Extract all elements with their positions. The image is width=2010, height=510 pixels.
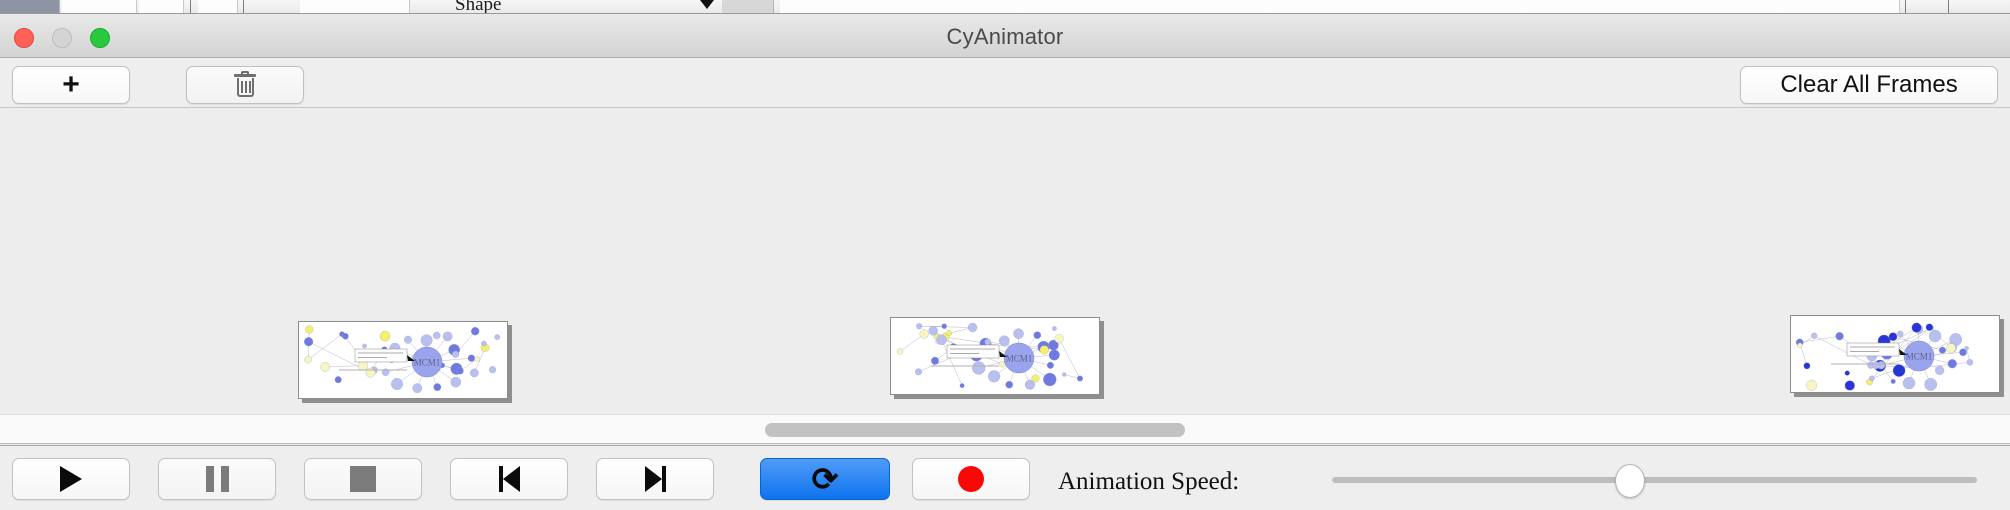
trash-icon — [234, 72, 256, 98]
skip-previous-icon — [499, 466, 520, 492]
timeline-scrollbar[interactable] — [0, 414, 2010, 444]
animation-speed-slider-thumb[interactable] — [1615, 464, 1645, 498]
stop-icon — [350, 466, 376, 492]
background-window: Shape — [0, 0, 2010, 14]
pause-icon — [206, 466, 229, 492]
cyanimator-window: Shape CyAnimator + Clear All Fr — [0, 0, 2010, 510]
scrollbar-thumb[interactable] — [765, 423, 1185, 437]
svg-text:MCM1: MCM1 — [1906, 352, 1933, 362]
svg-text:MCM1: MCM1 — [414, 358, 441, 368]
background-tick — [243, 0, 244, 14]
background-tick — [190, 0, 191, 14]
animation-speed-slider[interactable] — [1332, 477, 1977, 483]
background-tick — [1948, 0, 1949, 14]
timeline-panel[interactable]: MCM1MCM1MCM1 12131415161718 Seconds — [0, 109, 2010, 414]
clear-all-frames-button[interactable]: Clear All Frames — [1740, 66, 1998, 104]
next-frame-button[interactable] — [596, 458, 714, 500]
loop-button[interactable]: ⟳ — [760, 458, 890, 500]
background-chip — [0, 0, 60, 14]
play-icon — [60, 466, 82, 492]
window-title: CyAnimator — [0, 24, 2010, 50]
background-sliver — [300, 0, 410, 14]
title-bar[interactable]: CyAnimator — [0, 14, 2010, 58]
background-caret-icon — [700, 0, 714, 9]
timeline-frame[interactable]: MCM1 — [1790, 315, 2000, 393]
background-sliver — [62, 0, 137, 14]
add-frame-button[interactable]: + — [12, 66, 130, 104]
record-icon — [958, 466, 984, 492]
delete-frame-button[interactable] — [186, 66, 304, 104]
playback-control-bar: ⟳ Animation Speed: — [0, 445, 2010, 510]
background-sliver — [780, 0, 1900, 14]
pause-button[interactable] — [158, 458, 276, 500]
record-button[interactable] — [912, 458, 1030, 500]
background-window-label: Shape — [455, 0, 501, 14]
stop-button[interactable] — [304, 458, 422, 500]
plus-icon: + — [62, 73, 80, 97]
background-sliver — [198, 0, 238, 14]
play-button[interactable] — [12, 458, 130, 500]
skip-next-icon — [645, 466, 666, 492]
previous-frame-button[interactable] — [450, 458, 568, 500]
toolbar: + Clear All Frames — [0, 58, 2010, 108]
svg-text:MCM1: MCM1 — [1006, 354, 1033, 364]
timeline-frame[interactable]: MCM1 — [298, 321, 508, 399]
animation-speed-label: Animation Speed: — [1058, 468, 1239, 496]
background-sliver — [139, 0, 184, 14]
loop-icon: ⟳ — [812, 463, 839, 495]
timeline-frame[interactable]: MCM1 — [890, 317, 1100, 395]
background-chip — [722, 0, 774, 14]
clear-all-frames-label: Clear All Frames — [1780, 71, 1957, 99]
background-tick — [1905, 0, 1906, 14]
